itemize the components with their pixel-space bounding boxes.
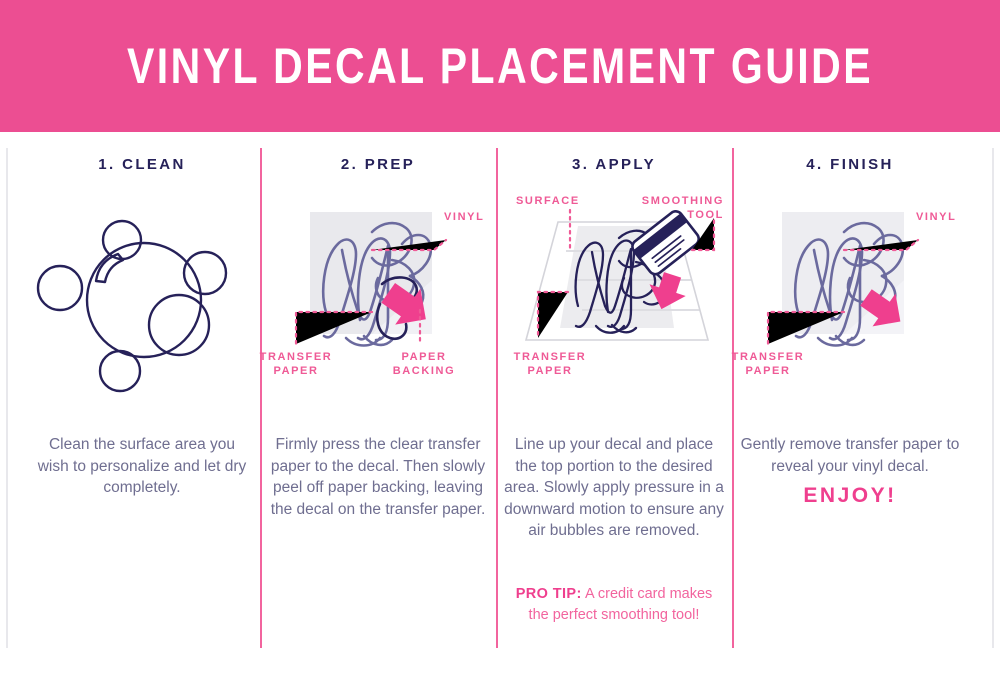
- bubble-right: [184, 252, 226, 294]
- callout-transfer-paper: TRANSFER PAPER: [490, 350, 610, 378]
- bubble-left: [38, 266, 82, 310]
- steps-container: 1. CLEAN Clean the surface area you wish…: [0, 132, 1000, 680]
- step-title-finish: 4. FINISH: [732, 156, 968, 173]
- step-title-clean: 1. CLEAN: [24, 156, 260, 173]
- callout-vinyl: VINYL: [444, 210, 484, 224]
- bubble-large: [87, 243, 201, 357]
- infographic-page: VINYL DECAL PLACEMENT GUIDE 1. CLEAN: [0, 0, 1000, 680]
- pro-tip-label: PRO TIP:: [516, 586, 582, 602]
- step-title-apply: 3. APPLY: [496, 156, 732, 173]
- step-column-finish: 4. FINISH: [732, 132, 968, 680]
- step-title-prep: 2. PREP: [260, 156, 496, 173]
- bubble-top: [103, 221, 141, 259]
- surface-apply-illustration: [496, 188, 732, 438]
- header-banner: VINYL DECAL PLACEMENT GUIDE: [0, 0, 1000, 132]
- callout-paper-backing: PAPER BACKING: [364, 350, 484, 378]
- step-body-clean: Clean the surface area you wish to perso…: [32, 434, 252, 499]
- callout-transfer-paper: TRANSFER PAPER: [708, 350, 828, 378]
- enjoy-text: ENJOY!: [740, 485, 960, 507]
- bubble-bottom: [100, 351, 140, 391]
- edge-rule-right: [992, 148, 994, 648]
- step-body-prep: Firmly press the clear transfer paper to…: [268, 434, 488, 520]
- callout-surface: SURFACE: [516, 194, 580, 208]
- step-body-finish: Gently remove transfer paper to reveal y…: [740, 434, 960, 507]
- bubbles-illustration: [24, 188, 260, 438]
- step-body-apply: Line up your decal and place the top por…: [504, 434, 724, 542]
- edge-rule-left: [6, 148, 8, 648]
- decal-reveal-illustration: [732, 188, 968, 438]
- callout-transfer-paper: TRANSFER PAPER: [236, 350, 356, 378]
- step-column-prep: 2. PREP: [260, 132, 496, 680]
- decal-peel-illustration: [260, 188, 496, 438]
- callout-smoothing-tool: SMOOTHING TOOL: [606, 194, 724, 222]
- callout-vinyl: VINYL: [916, 210, 956, 224]
- page-title: VINYL DECAL PLACEMENT GUIDE: [90, 0, 910, 132]
- step-body-finish-text: Gently remove transfer paper to reveal y…: [740, 434, 960, 477]
- step-column-clean: 1. CLEAN Clean the surface area you wish…: [24, 132, 260, 680]
- step-column-apply: 3. APPLY: [496, 132, 732, 680]
- pro-tip: PRO TIP: A credit card makes the perfect…: [504, 584, 724, 626]
